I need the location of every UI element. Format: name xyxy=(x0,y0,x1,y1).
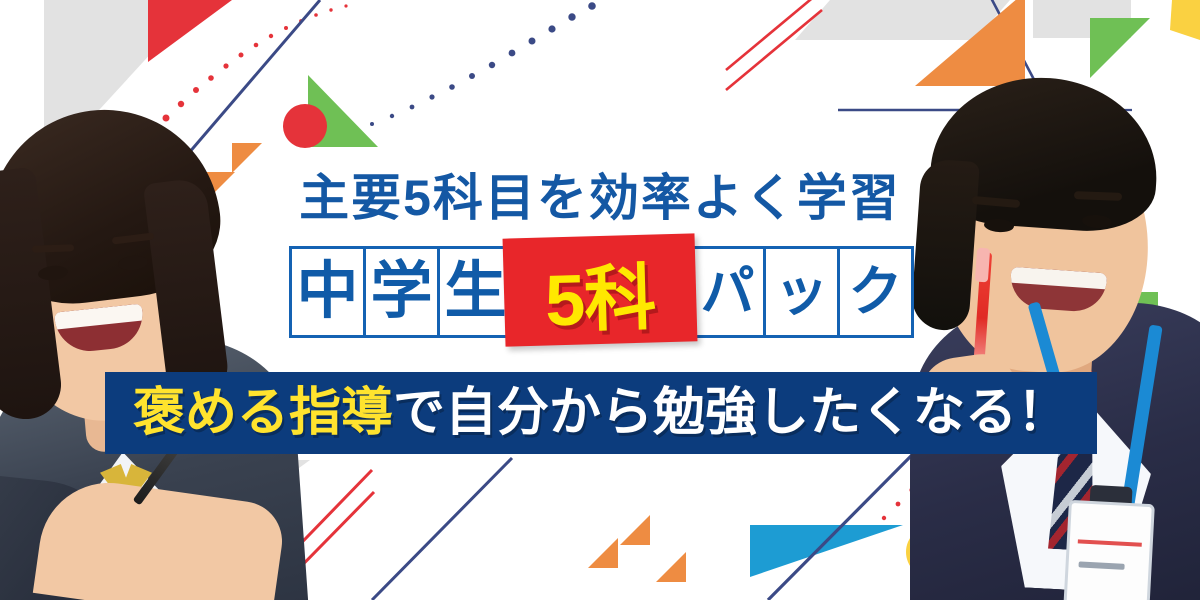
title-box-char-2: 学 xyxy=(363,246,440,338)
banner-tagline-band: 褒める指導で自分から勉強したくなる！ xyxy=(105,372,1097,454)
orange-triangle-lower-2 xyxy=(588,538,618,568)
red-diagonal-line-2 xyxy=(726,10,822,90)
badge-red-line xyxy=(1078,539,1142,546)
badge-text-line xyxy=(1078,561,1124,569)
banner-subtitle: 主要5科目を効率よく学習 xyxy=(0,158,1200,230)
navy-diagonal-lower xyxy=(372,458,512,600)
cyan-triangle-lower-right xyxy=(750,525,903,577)
promo-banner: 主要5科目を効率よく学習 中 学 生 5科 パ ッ ク 褒める指導で自分から勉強… xyxy=(0,0,1200,600)
navy-dotted-diagonal-line xyxy=(370,2,596,126)
title-highlight-text: 5科 xyxy=(507,243,693,340)
orange-triangle-lower-3 xyxy=(656,552,686,582)
red-diagonal-line-1 xyxy=(726,0,822,70)
orange-triangle-lower-1 xyxy=(620,515,650,545)
teacher-id-badge xyxy=(1063,500,1155,600)
title-box-char-4: パ xyxy=(689,246,766,338)
title-box-char-6: ク xyxy=(837,246,914,338)
tagline-highlight-text: 褒める指導 xyxy=(133,384,393,442)
title-box-char-1: 中 xyxy=(289,246,366,338)
title-box-char-5: ッ xyxy=(763,246,840,338)
banner-tagline: 褒める指導で自分から勉強したくなる！ xyxy=(133,387,1069,439)
green-triangle-upper-left xyxy=(308,75,378,147)
banner-title: 中 学 生 5科 パ ッ ク xyxy=(0,246,1200,338)
tagline-rest-text: で自分から勉強したくなる！ xyxy=(393,384,1069,442)
title-highlight: 5科 xyxy=(508,246,692,338)
navy-diagonal-lower-right xyxy=(768,455,912,600)
